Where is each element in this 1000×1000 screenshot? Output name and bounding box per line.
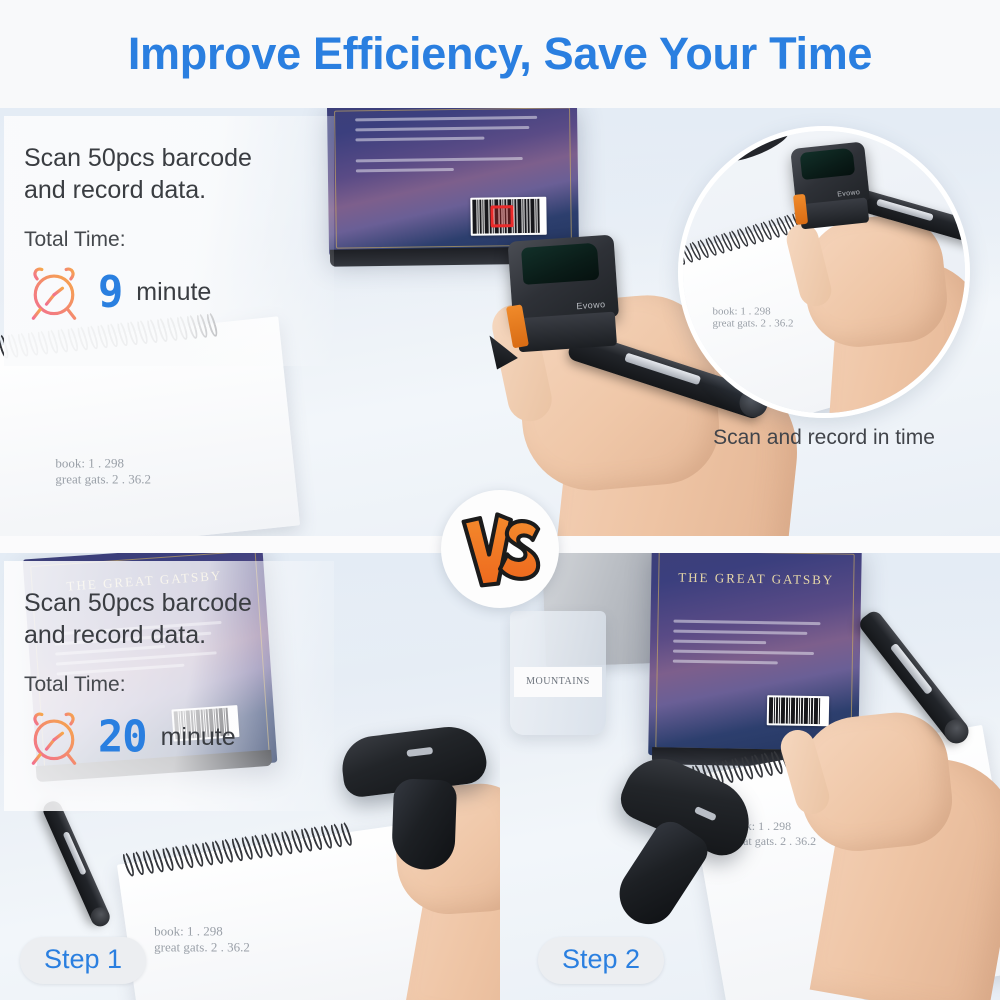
inset-circle-photo: book: 1 . 298 great gats. 2 . 36.2 Evowo <box>678 126 970 418</box>
bottom-headline: Scan 50pcs barcode and record data. <box>24 587 252 651</box>
step1-handwriting-line-2: great gats. 2 . 36.2 <box>154 940 250 956</box>
ring-barcode-scanner: Evowo <box>508 234 623 373</box>
scanner-finger-band <box>517 311 617 352</box>
bottom-total-time-label: Total Time: <box>24 673 252 697</box>
top-time-row: 9 minute <box>24 262 252 322</box>
handwriting-line-2: great gats. 2 . 36.2 <box>55 471 151 487</box>
notebook-handwriting: book: 1 . 298 great gats. 2 . 36.2 <box>55 455 151 487</box>
inset-scanner-brand-label: Evowo <box>837 189 861 198</box>
top-total-time-label: Total Time: <box>24 228 252 252</box>
top-comparison-panel: book: 1 . 298 great gats. 2 . 36.2 Evowo <box>0 108 1000 536</box>
handwriting-line-1: book: 1 . 298 <box>55 455 151 471</box>
bottom-time-unit: minute <box>161 723 236 752</box>
book-back-cover <box>327 108 579 256</box>
inset-caption: Scan and record in time <box>674 426 974 450</box>
book-excerpt-lines <box>355 116 546 180</box>
step-two-photo: MOUNTAINS THE GREAT GATSBY <box>500 553 1000 1000</box>
step1-spiral-binding <box>123 820 351 877</box>
step1-handwriting: book: 1 . 298 great gats. 2 . 36.2 <box>154 924 250 956</box>
alarm-clock-icon <box>24 262 84 322</box>
versus-badge <box>441 490 559 608</box>
top-time-value: 9 <box>98 270 122 314</box>
step1-pen-clip <box>63 831 87 875</box>
inset-handwriting-line-2: great gats. 2 . 36.2 <box>713 317 794 329</box>
alarm-clock-icon <box>24 707 84 767</box>
scanner-head: Evowo <box>508 234 619 323</box>
inset-handwriting: book: 1 . 298 great gats. 2 . 36.2 <box>713 305 794 329</box>
top-time-unit: minute <box>136 278 211 307</box>
product-infographic: Improve Efficiency, Save Your Time <box>0 0 1000 1000</box>
scanner-brand-label: Evowo <box>576 299 606 311</box>
top-headline: Scan 50pcs barcode and record data. <box>24 142 252 206</box>
step2-book-barcode <box>767 695 830 726</box>
step1-pen-cap <box>88 904 113 929</box>
bottom-time-row: 20 minute <box>24 707 252 767</box>
inset-handwriting-line-1: book: 1 . 298 <box>713 305 794 317</box>
scanner-window <box>521 243 600 285</box>
step-one-badge: Step 1 <box>20 937 146 984</box>
step2-book-lines <box>673 620 833 673</box>
step1-handwriting-line-1: book: 1 . 298 <box>154 924 250 940</box>
step-two-badge: Step 2 <box>538 937 664 984</box>
step1-handheld-scanner <box>339 723 498 868</box>
step1-scanner-grip <box>391 778 457 870</box>
page-title: Improve Efficiency, Save Your Time <box>128 28 872 80</box>
bottom-time-value: 20 <box>98 715 147 759</box>
top-text-block: Scan 50pcs barcode and record data. Tota… <box>24 142 252 322</box>
step2-jar-label: MOUNTAINS <box>514 667 602 697</box>
bottom-text-block: Scan 50pcs barcode and record data. Tota… <box>24 587 252 767</box>
inset-scanner-window <box>800 148 856 180</box>
bottom-comparison-panel: THE GREAT GATSBY <box>0 553 1000 1000</box>
step2-flower-jar: MOUNTAINS <box>510 611 606 735</box>
scanner-aimer-icon <box>490 205 513 227</box>
vs-graffiti-icon <box>454 509 546 589</box>
inset-ring-scanner: Evowo <box>790 141 874 244</box>
header-bar: Improve Efficiency, Save Your Time <box>0 0 1000 108</box>
step1-desk-pen <box>40 798 111 926</box>
step2-pen-clip <box>890 643 933 695</box>
